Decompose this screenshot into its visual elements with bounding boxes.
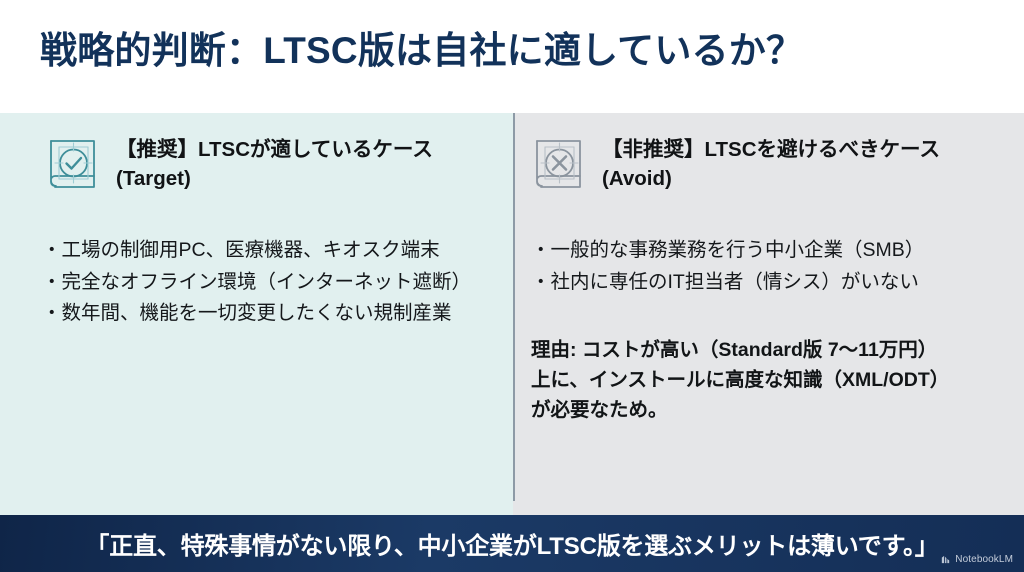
list-item: 数年間、機能を一切変更したくない規制産業 [42,298,502,330]
panel-avoid-bullet-list: 一般的な事務業務を行う中小企業（SMB） 社内に専任のIT担当者（情シス）がいな… [531,235,1006,298]
panel-target-bullet-list: 工場の制御用PC、医療機器、キオスク端末 完全なオフライン環境（インターネット遮… [42,235,502,330]
panel-divider [513,113,515,501]
panel-target-heading-line1: 【推奨】LTSCが適しているケース [116,135,433,164]
banner-quote: 「正直、特殊事情がない限り、中小企業がLTSC版を選ぶメリットは薄いです。」 [0,515,1024,572]
list-item: 社内に専任のIT担当者（情シス）がいない [531,267,1006,299]
panel-avoid: 【非推奨】LTSCを避けるべきケース (Avoid) 一般的な事務業務を行う中小… [513,113,1024,515]
bottom-banner: 「正直、特殊事情がない限り、中小企業がLTSC版を選ぶメリットは薄いです。」 N… [0,515,1024,572]
list-item: 完全なオフライン環境（インターネット遮断） [42,267,502,299]
list-item: 工場の制御用PC、医療機器、キオスク端末 [42,235,502,267]
reason-line-2: 上に、インストールに高度な知識（XML/ODT） [531,365,1011,395]
reason-line-3: が必要なため。 [531,395,1011,425]
panel-target: 【推奨】LTSCが適しているケース (Target) 工場の制御用PC、医療機器… [0,113,513,515]
notebooklm-logo-icon [940,554,951,565]
panel-target-header: 【推奨】LTSCが適しているケース (Target) [42,130,492,196]
panel-target-heading-line2: (Target) [116,164,433,193]
slide-header: 戦略的判断：LTSC版は自社に適しているか？ [0,0,1024,113]
panel-target-heading: 【推奨】LTSCが適しているケース (Target) [116,135,433,193]
reason-block: 理由: コストが高い（Standard版 7〜11万円） 上に、インストールに高… [531,335,1011,426]
panel-avoid-heading: 【非推奨】LTSCを避けるべきケース (Avoid) [602,135,940,193]
notebooklm-watermark-label: NotebookLM [955,554,1013,565]
panel-avoid-header: 【非推奨】LTSCを避けるべきケース (Avoid) [528,130,998,196]
notebooklm-watermark: NotebookLM [940,554,1013,565]
panel-avoid-heading-line1: 【非推奨】LTSCを避けるべきケース [602,135,940,164]
panel-avoid-heading-line2: (Avoid) [602,164,940,193]
blueprint-check-icon [42,132,106,196]
slide-root: 戦略的判断：LTSC版は自社に適しているか？ [0,0,1024,572]
reason-line-1: 理由: コストが高い（Standard版 7〜11万円） [531,335,1011,365]
blueprint-cross-icon [528,132,592,196]
page-title: 戦略的判断：LTSC版は自社に適しているか？ [40,28,803,74]
list-item: 一般的な事務業務を行う中小企業（SMB） [531,235,1006,267]
comparison-panels: 【推奨】LTSCが適しているケース (Target) 工場の制御用PC、医療機器… [0,113,1024,515]
